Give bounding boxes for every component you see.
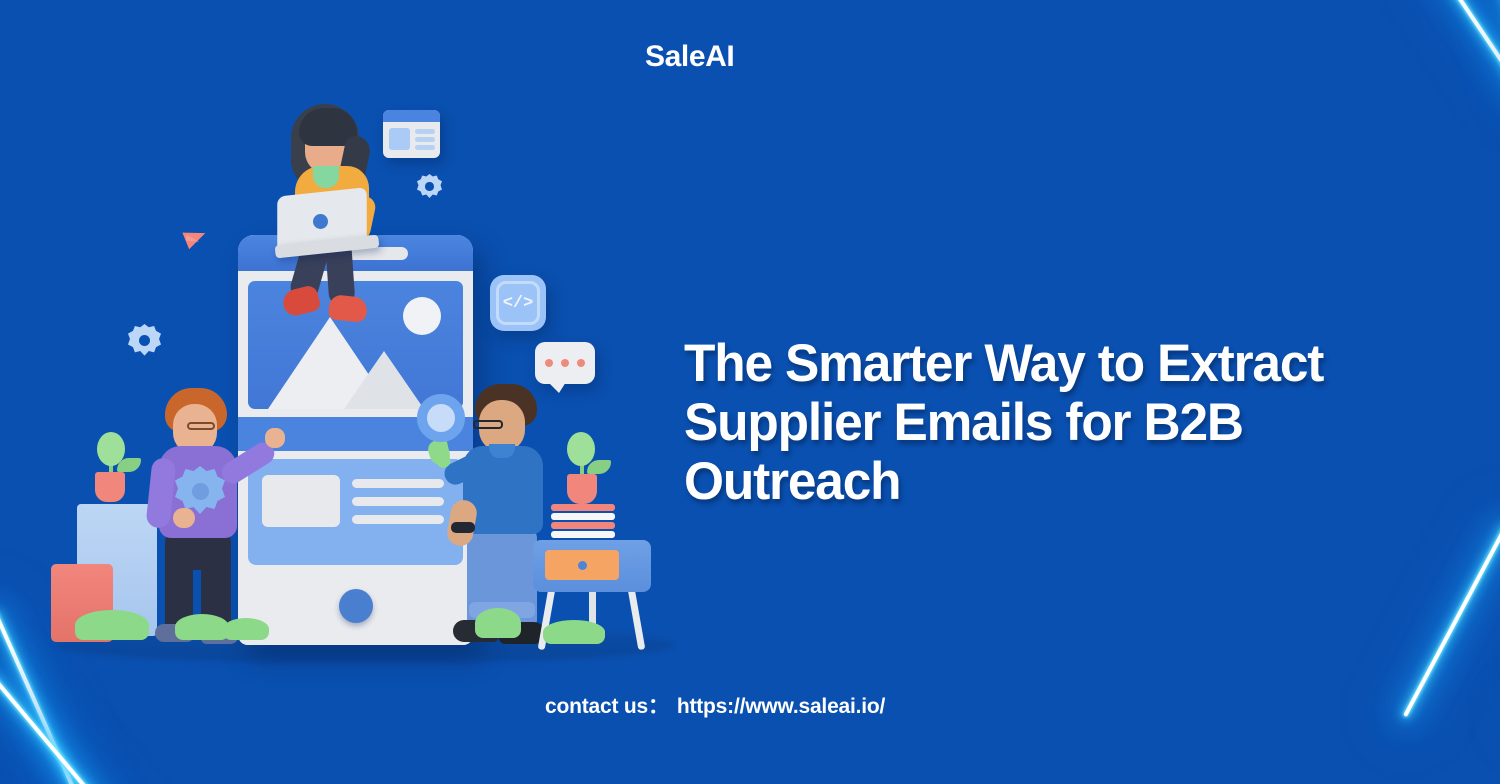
poster-canvas: SaleAI The Smarter Way to Extract Suppli…: [0, 0, 1500, 784]
card-text-line: [352, 515, 444, 524]
plant-pot-left: [95, 472, 125, 502]
character-gear-woman: [143, 380, 273, 650]
fist: [265, 428, 285, 448]
shoe-right: [328, 294, 368, 323]
chat-dot: [545, 359, 553, 367]
plant-leaf-right-large: [567, 432, 595, 466]
sun-shape: [403, 297, 441, 335]
gear-prop-core: [192, 483, 209, 500]
hand: [173, 508, 195, 528]
paper-plane-icon: [182, 225, 208, 250]
nightstand-knob: [578, 561, 587, 570]
glasses: [187, 422, 215, 430]
glasses: [473, 420, 503, 429]
chat-dot: [561, 359, 569, 367]
neon-arrow-bottom-right-stroke-2: [1403, 525, 1500, 717]
chat-dots: [535, 342, 595, 384]
bush: [543, 620, 605, 644]
book: [551, 513, 615, 520]
chat-dot: [577, 359, 585, 367]
code-icon: </>: [490, 275, 546, 331]
bush: [223, 618, 269, 640]
contact-url: https://www.saleai.io/: [677, 695, 885, 718]
gear-icon: [417, 174, 442, 199]
bush: [75, 610, 149, 640]
plant-pot-right: [567, 474, 597, 504]
book-stack: [551, 504, 615, 540]
book: [551, 522, 615, 529]
magnifier-icon: [417, 394, 465, 442]
neon-chevron-top-right-stroke-2: [1463, 0, 1500, 95]
phone-bottom-bar: [238, 567, 473, 645]
bush: [475, 608, 521, 638]
contact-footer: contact us：https://www.saleai.io/: [545, 690, 885, 720]
hero-illustration: </>: [55, 80, 675, 660]
phone-content-card: [248, 459, 463, 565]
inner-shirt: [313, 166, 339, 188]
phone-home-button: [339, 589, 373, 623]
plant-leaf-left-large: [97, 432, 125, 466]
gear-core: [425, 182, 434, 191]
window-card-line: [415, 129, 435, 134]
card-text-line: [352, 497, 444, 506]
card-text-line: [352, 479, 444, 488]
window-card-line: [415, 137, 435, 142]
brand-logo: SaleAI: [645, 40, 734, 74]
gear-core: [139, 335, 150, 346]
neon-chevron-bottom-left-stroke-2: [0, 675, 167, 784]
book: [551, 531, 615, 538]
mountain-shape-small: [344, 351, 424, 409]
window-card-line: [415, 145, 435, 150]
character-laptop-woman: [255, 100, 415, 300]
gear-icon: [128, 324, 161, 357]
bush: [175, 614, 229, 640]
laptop-logo: [313, 214, 328, 229]
code-icon-glyph: </>: [496, 281, 540, 325]
neon-chevron-top-right-stroke-1: [1355, 0, 1500, 95]
chat-bubble-icon: [535, 342, 595, 384]
card-thumbnail: [262, 475, 340, 527]
plant-leaf-right-small: [587, 460, 611, 474]
paper-plane-fin: [186, 235, 199, 242]
page-title: The Smarter Way to Extract Supplier Emai…: [684, 334, 1450, 511]
wristwatch: [451, 522, 475, 533]
contact-label: contact us：: [545, 695, 669, 718]
book: [551, 504, 615, 511]
